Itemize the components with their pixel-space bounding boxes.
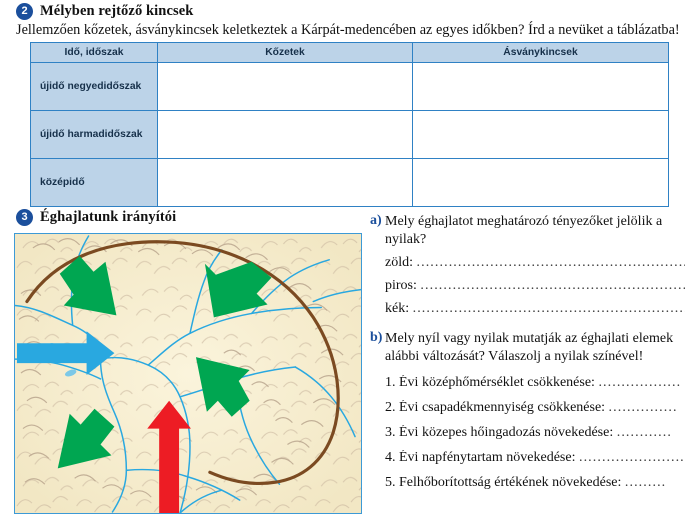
item-3-dots: ............	[617, 425, 672, 440]
item-1-text: Évi középhőmérséklet csökkenése:	[399, 375, 595, 390]
question-b-line1: Mely nyíl vagy nyilak mutatják az éghajl…	[385, 330, 685, 348]
answer-field-item-4[interactable]: 4. Évi napfénytartam növekedése: .......…	[385, 450, 685, 466]
item-5-text: Felhőborítottság értékének növekedése:	[399, 475, 621, 490]
exercise-2-intro: Jellemzően kőzetek, ásványkincsek keletk…	[16, 22, 684, 40]
worksheet-page: 2 Mélyben rejtőző kincsek Jellemzően kőz…	[0, 0, 691, 526]
answer-field-item-5[interactable]: 5. Felhőborítottság értékének növekedése…	[385, 475, 685, 491]
exercise-2-heading: 2 Mélyben rejtőző kincsek	[16, 3, 193, 20]
column-header-time: Idő, időszak	[31, 43, 158, 63]
answer-cell-minerals-1[interactable]	[413, 63, 669, 111]
item-3-text: Évi közepes hőingadozás növekedése:	[399, 425, 613, 440]
question-a-line2: nyilak?	[385, 231, 685, 249]
exercise-3-title: Éghajlatunk irányítói	[40, 209, 176, 226]
column-header-rocks: Kőzetek	[158, 43, 413, 63]
table-row: középidő	[31, 159, 669, 207]
answer-cell-rocks-3[interactable]	[158, 159, 413, 207]
question-a: a) Mely éghajlatot meghatározó tényezőke…	[370, 213, 685, 317]
row-label-kozepido: középidő	[31, 159, 158, 207]
exercise-3-heading: 3 Éghajlatunk irányítói	[16, 209, 176, 226]
answer-label-zold: zöld:	[385, 255, 413, 270]
answer-dots-zold: ........................................…	[417, 255, 686, 270]
answer-field-item-3[interactable]: 3. Évi közepes hőingadozás növekedése: .…	[385, 425, 685, 441]
item-5-dots: .........	[625, 475, 666, 490]
exercise-3-badge: 3	[16, 209, 33, 226]
item-1-dots: ..................	[598, 375, 681, 390]
climate-map	[14, 233, 362, 514]
row-label-ujido-negyedidoszak: újidő negyedidőszak	[31, 63, 158, 111]
table-row: újidő negyedidőszak	[31, 63, 669, 111]
answer-dots-piros: ........................................…	[420, 278, 685, 293]
question-a-line1: Mely éghajlatot meghatározó tényezőket j…	[385, 213, 685, 231]
answer-field-zold[interactable]: zöld: ..................................…	[385, 255, 685, 271]
item-4-number: 4.	[385, 450, 396, 465]
exercise-2-badge: 2	[16, 3, 33, 20]
item-2-dots: ...............	[609, 400, 678, 415]
question-b-line2: alábbi változását? Válaszolj a nyilak sz…	[385, 348, 685, 366]
item-5-number: 5.	[385, 475, 396, 490]
answer-cell-rocks-2[interactable]	[158, 111, 413, 159]
question-b-marker: b)	[370, 330, 382, 346]
answer-field-kek[interactable]: kék: ...................................…	[385, 301, 685, 317]
questions-column: a) Mely éghajlatot meghatározó tényezőke…	[370, 213, 685, 493]
question-b: b) Mely nyíl vagy nyilak mutatják az égh…	[370, 330, 685, 490]
item-4-dots: ........................	[579, 450, 685, 465]
answer-field-piros[interactable]: piros: .................................…	[385, 278, 685, 294]
answer-field-item-2[interactable]: 2. Évi csapadékmennyiség csökkenése: ...…	[385, 400, 685, 416]
question-a-marker: a)	[370, 213, 382, 229]
table-header-row: Idő, időszak Kőzetek Ásványkincsek	[31, 43, 669, 63]
answer-dots-kek: ........................................…	[413, 301, 685, 316]
item-2-number: 2.	[385, 400, 396, 415]
map-graphic	[15, 234, 361, 513]
column-header-minerals: Ásványkincsek	[413, 43, 669, 63]
row-label-ujido-harmadidoszak: újidő harmadidőszak	[31, 111, 158, 159]
item-3-number: 3.	[385, 425, 396, 440]
table-row: újidő harmadidőszak	[31, 111, 669, 159]
exercise-2-title: Mélyben rejtőző kincsek	[40, 3, 193, 20]
item-2-text: Évi csapadékmennyiség csökkenése:	[399, 400, 605, 415]
answer-label-kek: kék:	[385, 301, 409, 316]
answer-cell-rocks-1[interactable]	[158, 63, 413, 111]
item-1-number: 1.	[385, 375, 396, 390]
rocks-minerals-table: Idő, időszak Kőzetek Ásványkincsek újidő…	[30, 42, 669, 207]
item-4-text: Évi napfénytartam növekedése:	[399, 450, 575, 465]
answer-cell-minerals-2[interactable]	[413, 111, 669, 159]
answer-field-item-1[interactable]: 1. Évi középhőmérséklet csökkenése: ....…	[385, 375, 685, 391]
answer-label-piros: piros:	[385, 278, 417, 293]
answer-cell-minerals-3[interactable]	[413, 159, 669, 207]
